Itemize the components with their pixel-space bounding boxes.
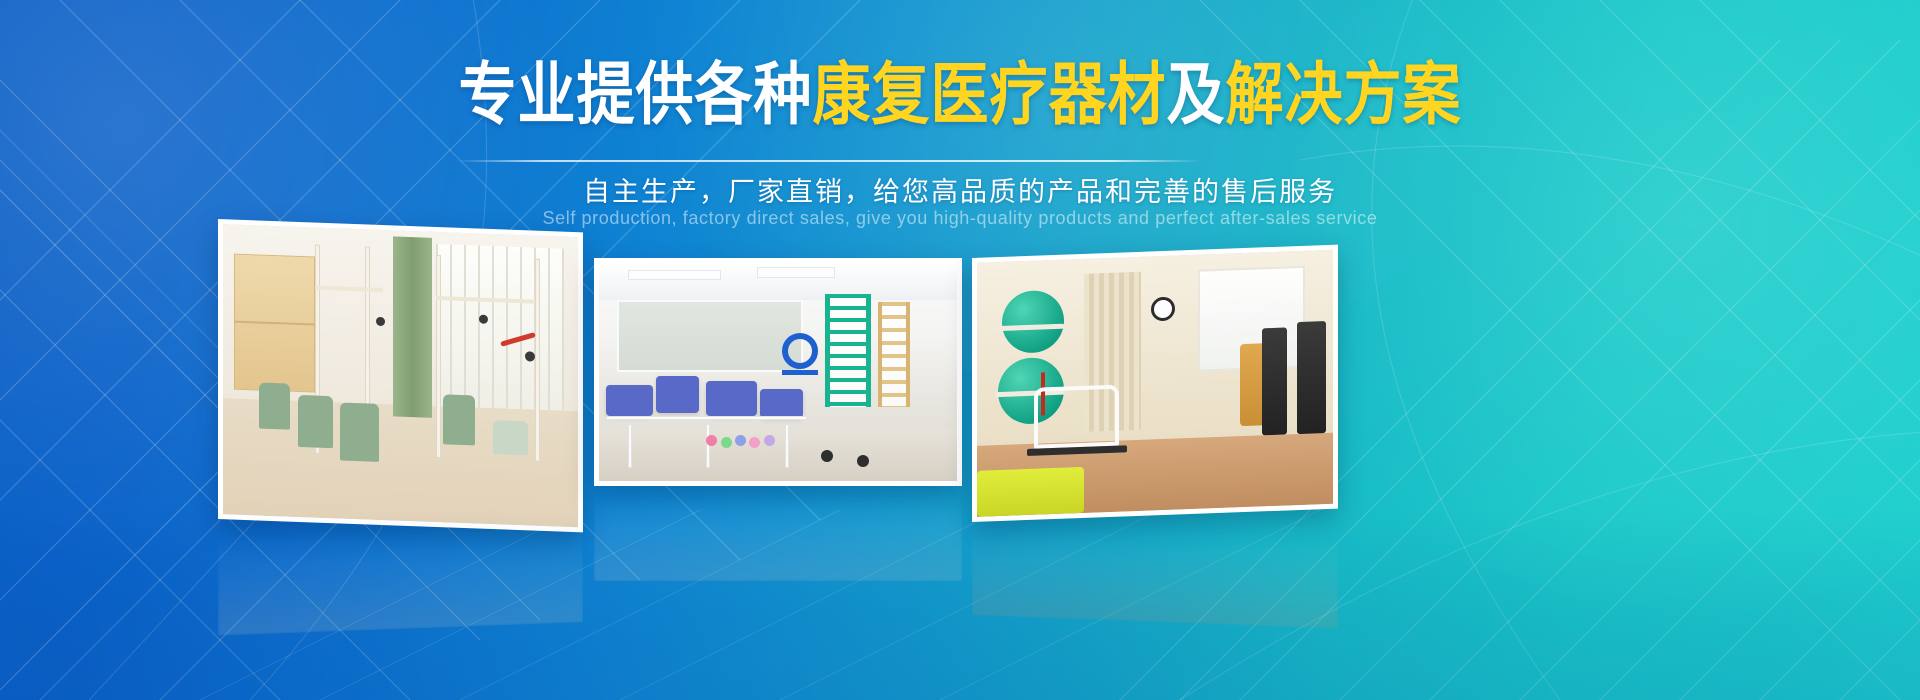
photo-right-image	[977, 250, 1333, 517]
photo-left[interactable]	[218, 219, 583, 532]
hero-banner: 专业提供各种康复医疗器材及解决方案 自主生产，厂家直销，给您高品质的产品和完善的…	[0, 0, 1920, 700]
rehab-room-3-illustration	[977, 250, 1333, 517]
rehab-room-1-illustration	[223, 224, 578, 527]
photo-center[interactable]	[594, 258, 962, 486]
rehab-room-2-illustration	[599, 263, 957, 481]
photo-gallery	[0, 0, 1920, 700]
photo-right[interactable]	[972, 245, 1338, 522]
photo-left-image	[223, 224, 578, 527]
photo-center-image	[599, 263, 957, 481]
